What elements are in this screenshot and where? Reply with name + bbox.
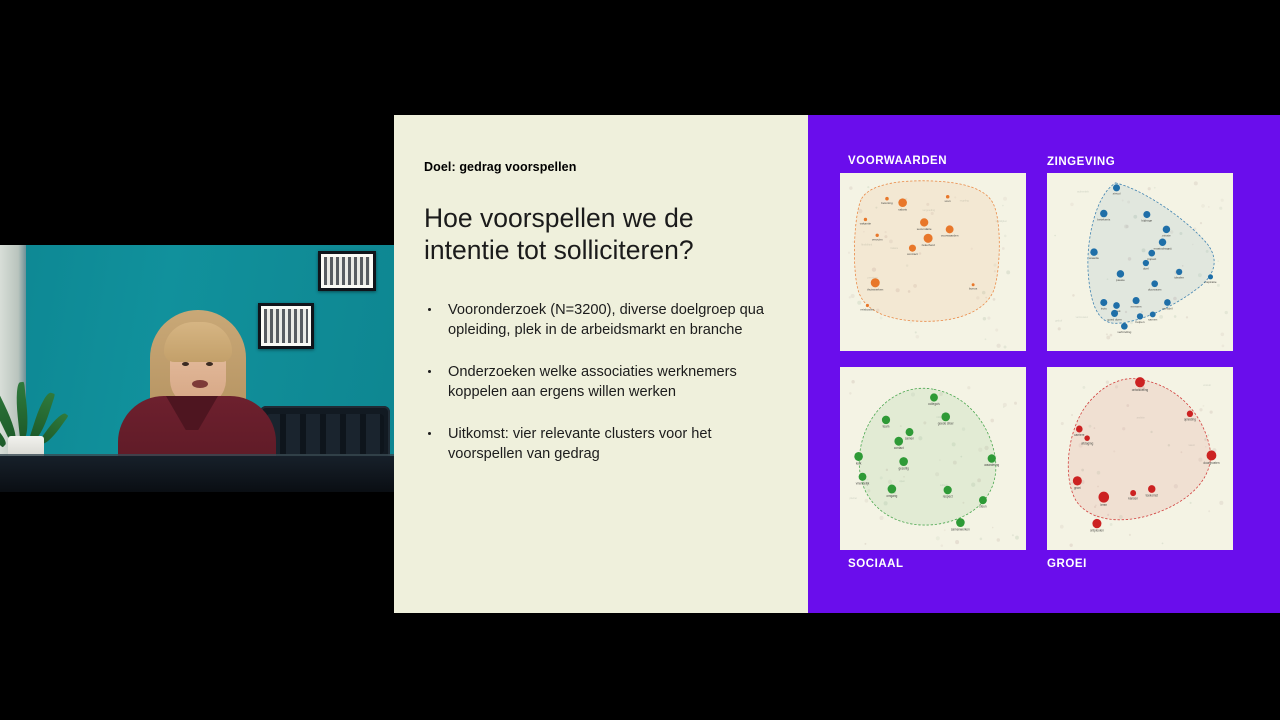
cluster-hull-fill (1068, 379, 1210, 520)
cluster-node-label: collega's (928, 402, 940, 406)
cluster-node (1176, 269, 1182, 275)
cluster-node (1148, 485, 1155, 493)
cluster-label-groei: GROEI (1047, 558, 1087, 570)
cluster-node-label: uitdaging (1081, 441, 1094, 445)
cluster-node (1117, 270, 1124, 278)
cluster-node-label: kansen (1128, 497, 1138, 501)
cluster-node (1143, 211, 1150, 218)
cluster-node (854, 452, 863, 461)
cluster-node-label: carriere (1074, 433, 1085, 437)
cluster-node-label: leren (1100, 503, 1107, 507)
cluster-node (941, 412, 950, 421)
cluster-node-label: goede sfeer (938, 422, 954, 426)
slide-cluster-panel: VOORWAARDEN flexibiliteitpensioenwerktij… (808, 115, 1280, 613)
cluster-node (1148, 250, 1155, 257)
cluster-node (1163, 226, 1170, 234)
cluster-node (899, 457, 908, 466)
cluster-node-label: vakantie (860, 222, 872, 226)
bullet-dot-icon (428, 370, 431, 373)
bullet-item: Onderzoeken welke associaties werknemers… (422, 363, 790, 403)
cluster-node-label: leuk (856, 461, 862, 465)
cluster-node (1207, 450, 1217, 460)
cluster-node (1133, 297, 1140, 304)
bullet-text: Vooronderzoek (N=3200), diverse doelgroe… (448, 302, 764, 338)
cluster-node (1208, 274, 1213, 279)
cluster-card-groei: ambitiecursustalentvooruitontwikkelingop… (1047, 367, 1233, 550)
cluster-node-label: uren (945, 199, 951, 203)
svg-text:geloof: geloof (1055, 319, 1062, 323)
cluster-node (956, 518, 965, 527)
bullet-dot-icon (428, 432, 431, 435)
cluster-node (920, 218, 928, 226)
cluster-node-label: missie (1162, 233, 1171, 237)
cluster-node (1098, 492, 1109, 503)
cluster-node (1143, 260, 1149, 266)
cluster-node (1100, 210, 1107, 218)
cluster-node-label: doorgroeien (1203, 461, 1219, 465)
cluster-node (988, 454, 996, 463)
bullet-text: Uitkomst: vier relevante clusters voor h… (448, 426, 712, 462)
slide-bullet-list: Vooronderzoek (N=3200), diverse doelgroe… (422, 301, 790, 487)
eye (182, 362, 189, 366)
cluster-label-voorwaarden: VOORWAARDEN (848, 155, 947, 167)
cluster-node (1135, 377, 1145, 387)
cluster-node (1084, 435, 1089, 441)
cluster-node (909, 245, 916, 252)
cluster-node-label: verbinding (1117, 330, 1131, 334)
cluster-node-label: betekenis (1097, 218, 1110, 222)
cluster-node (1164, 299, 1171, 306)
slide-text-panel: Doel: gedrag voorspellen Hoe voorspellen… (394, 115, 808, 613)
cluster-node (979, 496, 987, 504)
cluster-plot-groei: ambitiecursustalentvooruitontwikkelingop… (1047, 367, 1233, 550)
cluster-node (894, 437, 903, 446)
cluster-node-label: waarde (1089, 256, 1099, 260)
cluster-node (946, 225, 954, 233)
cluster-node (1130, 490, 1136, 496)
cluster-card-voorwaarden: flexibiliteitpensioenwerktijdenregelingv… (840, 173, 1026, 351)
cluster-node-label: zinvol (1113, 192, 1121, 196)
cluster-node-label: bijdrage (1141, 218, 1152, 222)
cluster-node-label: team (883, 425, 890, 429)
cluster-node (1137, 313, 1143, 319)
cluster-node-label: omgang (886, 494, 897, 498)
cluster-node-label: impact (1147, 257, 1156, 261)
cluster-node (1113, 184, 1120, 191)
cluster-node-label: samen (1148, 318, 1157, 322)
cluster-node (1111, 310, 1118, 317)
cluster-node (944, 486, 952, 495)
cluster-plot-voorwaarden: flexibiliteitpensioenwerktijdenregelingv… (840, 173, 1026, 351)
cluster-node-label: gezellig (899, 466, 910, 470)
svg-text:authentiek: authentiek (1077, 190, 1089, 194)
cluster-node-label: idealen (1174, 275, 1184, 279)
cluster-node (1100, 299, 1107, 306)
cluster-node-label: opleiding (1184, 417, 1196, 421)
bullet-text: Onderzoeken welke associaties werknemers… (448, 364, 737, 400)
cluster-node (1073, 476, 1082, 485)
slide-headline: Hoe voorspellen we de intentie tot solli… (424, 203, 754, 266)
eye (206, 362, 213, 366)
cluster-node (906, 428, 914, 436)
cluster-plot-zingeving: vertrouwenauthentiekgeloofzinvolbetekeni… (1047, 173, 1233, 351)
cluster-node-label: passie (1116, 278, 1125, 282)
cluster-node-label: toekomst (1146, 493, 1158, 497)
cluster-node-label: doel (1143, 267, 1149, 271)
cluster-node-label: secundaire (917, 227, 932, 231)
cluster-card-zingeving: vertrouwenauthentiekgeloofzinvolbetekeni… (1047, 173, 1233, 351)
cluster-node-label: waardering (984, 463, 999, 467)
picture-content (324, 257, 370, 285)
framed-picture-large (318, 251, 376, 291)
cluster-node-label: respect (943, 495, 953, 499)
cluster-node (1076, 426, 1083, 433)
cluster-node (1090, 248, 1097, 256)
cluster-node-label: duurzaam (1148, 287, 1162, 291)
cluster-node-label: thuiswerken (867, 288, 883, 292)
cluster-node-label: steun (979, 505, 987, 509)
cluster-card-sociaal: plezieropeninformeelcultuurcollega'sgoed… (840, 367, 1026, 550)
cluster-node-label: maatschappij (1154, 246, 1172, 250)
cluster-node-label: salaris (898, 207, 907, 211)
svg-text:vertrouwen: vertrouwen (1076, 315, 1089, 319)
cluster-node (1151, 280, 1158, 287)
cluster-node-label: contract (907, 252, 918, 256)
cluster-node-label: inspiratie (1204, 280, 1216, 284)
cluster-node-label: zekerheid (922, 243, 935, 247)
presenter-video-feed (0, 245, 394, 492)
cluster-node-label: samen (905, 437, 914, 441)
cluster-node-label: voorwaarden (941, 234, 959, 238)
cluster-node (871, 278, 880, 287)
svg-text:vooruit: vooruit (1203, 383, 1211, 387)
cluster-node-label: samenwerken (951, 527, 970, 531)
cluster-node-label: helpen (1135, 320, 1144, 324)
svg-text:plezier: plezier (850, 496, 858, 500)
cluster-node-label: verschil (1162, 306, 1173, 310)
cluster-hull-fill (854, 181, 999, 322)
bullet-dot-icon (428, 308, 431, 311)
cluster-node (898, 198, 907, 207)
cluster-node (1187, 411, 1193, 418)
cluster-node-label: beloning (881, 201, 893, 205)
cluster-node (1150, 311, 1156, 317)
cluster-label-zingeving: ZINGEVING (1047, 156, 1115, 168)
cluster-node (924, 234, 933, 243)
cluster-node-label: ontplooien (1090, 529, 1104, 533)
cluster-node (1121, 323, 1128, 330)
cluster-node (1113, 302, 1120, 309)
bullet-item: Vooronderzoek (N=3200), diverse doelgroe… (422, 301, 790, 341)
cluster-node-label: ontwikkeling (1132, 388, 1149, 392)
slide-eyebrow: Doel: gedrag voorspellen (424, 160, 576, 174)
cluster-label-sociaal: SOCIAAL (848, 558, 904, 570)
cluster-node-label: verzuim (872, 237, 883, 241)
cluster-node-label: groei (1074, 486, 1081, 490)
cluster-plot-sociaal: plezieropeninformeelcultuurcollega'sgoed… (840, 367, 1026, 550)
cluster-node (882, 416, 890, 425)
mouth (192, 380, 208, 388)
cluster-node-label: mensen (1131, 304, 1142, 308)
desk (0, 456, 394, 492)
bullet-item: Uitkomst: vier relevante clusters voor h… (422, 425, 790, 465)
cluster-node (1159, 238, 1166, 246)
cluster-node (888, 485, 897, 494)
cluster-node-label: goed doen (1107, 317, 1122, 321)
cluster-node (859, 473, 867, 481)
cluster-node-label: contact (894, 446, 904, 450)
cluster-node-label: trots (1101, 306, 1107, 310)
cluster-node (1092, 519, 1101, 528)
cluster-node (930, 393, 938, 401)
cluster-node-label: vriendelijk (856, 481, 870, 485)
cluster-node-label: bonus (969, 287, 978, 291)
cluster-node-label: reiskosten (861, 307, 875, 311)
